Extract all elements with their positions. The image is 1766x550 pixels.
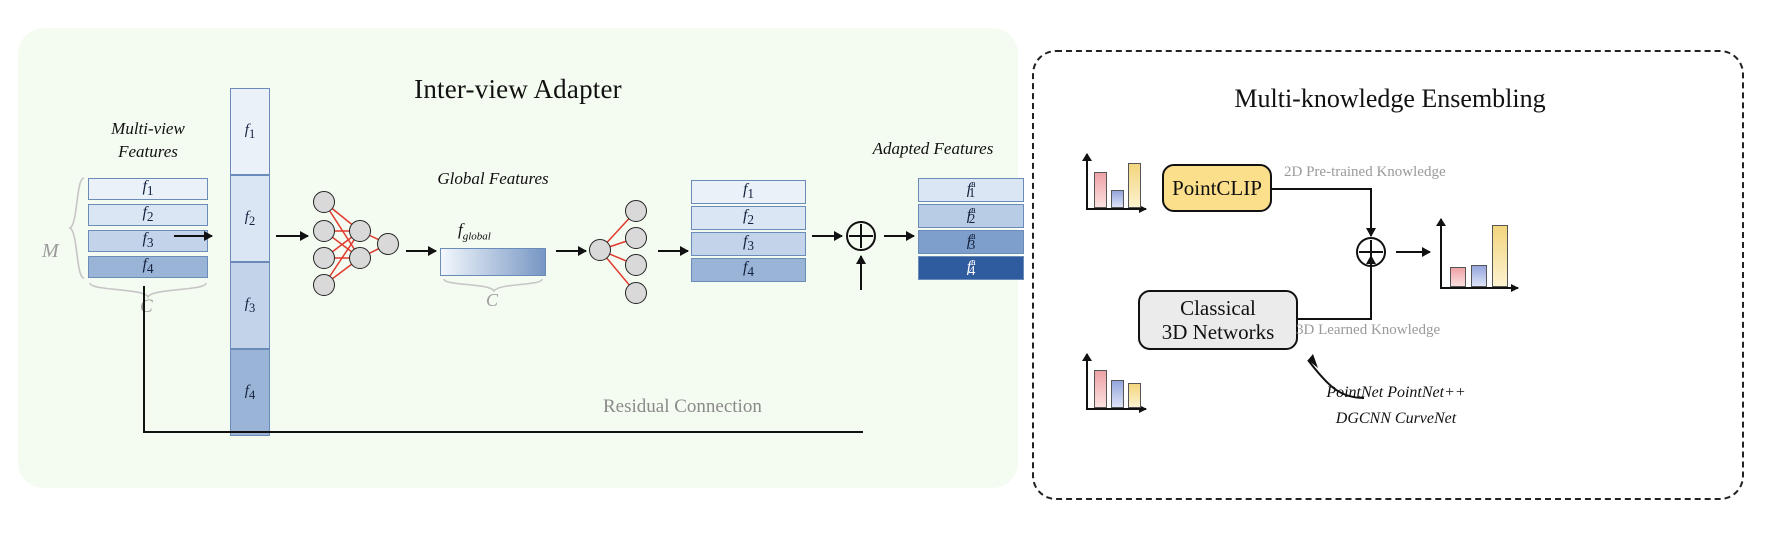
multi-view-features-label: Multi-view Features (53, 118, 243, 164)
adapted-feature-box: fa4 (918, 256, 1024, 280)
decoded-feature-box: f2 (691, 206, 806, 230)
decoded-feature-box: f3 (691, 232, 806, 256)
global-feature-bar (440, 248, 546, 276)
page-title-right: Multi-knowledge Ensembling (1034, 84, 1746, 114)
bottom-knowledge-elbow (1370, 274, 1372, 320)
arrow-to-concat (174, 235, 212, 237)
global-features-label: Global Features (388, 168, 598, 191)
bottom-knowledge-line (1298, 318, 1372, 320)
inter-view-adapter-panel: Inter-view Adapter Multi-view Features M… (18, 28, 1018, 488)
arrow-to-output-chart (1396, 251, 1430, 253)
concat-segment: f1 (230, 88, 270, 175)
network-names-list: PointNet PointNet++ DGCNN CurveNet (1286, 380, 1506, 431)
oplus-icon-ensemble (1356, 237, 1386, 267)
decoder-output-node (625, 227, 647, 249)
decoder-input-node (589, 239, 611, 261)
multi-view-feature-box: f3 (88, 230, 208, 252)
decoded-feature-box: f1 (691, 180, 806, 204)
encoder-hidden-node (349, 220, 371, 242)
adapted-feature-box: fa1 (918, 178, 1024, 202)
multi-view-feature-box: f1 (88, 178, 208, 200)
residual-connection-label: Residual Connection (603, 396, 762, 418)
decoder-output-node (625, 200, 647, 222)
oplus-icon (846, 221, 876, 251)
knowledge-label-2d: 2D Pre-trained Knowledge (1284, 164, 1446, 181)
arrow-to-sum (812, 235, 842, 237)
diagram-canvas: Inter-view Adapter Multi-view Features M… (0, 0, 1766, 550)
adapted-feature-box: fa3 (918, 230, 1024, 254)
top-knowledge-arrow (1370, 218, 1372, 236)
page-title: Inter-view Adapter (18, 74, 1018, 105)
decoder-output-node (625, 254, 647, 276)
encoder-hidden-node (349, 247, 371, 269)
adapted-features-label: Adapted Features (833, 138, 1033, 161)
f-global-label: fglobal (458, 220, 491, 242)
adapted-feature-box: fa2 (918, 204, 1024, 228)
arrow-to-adapted (884, 235, 914, 237)
encoder-node (313, 220, 335, 242)
multi-view-feature-box: f4 (88, 256, 208, 278)
concat-segment: f2 (230, 175, 270, 262)
classical-3d-networks-box[interactable]: Classical 3D Networks (1138, 290, 1298, 350)
top-knowledge-line (1272, 188, 1372, 190)
encoder-node (313, 247, 335, 269)
knowledge-label-3d: 3D Learned Knowledge (1296, 322, 1440, 339)
arrow-to-decoded-features (658, 250, 688, 252)
decoded-feature-box: f4 (691, 258, 806, 282)
residual-arrow-up (860, 256, 862, 290)
dimension-m-label: M (42, 240, 59, 263)
pointclip-input-chart (1086, 152, 1148, 210)
encoder-output-node (377, 233, 399, 255)
encoder-node (313, 191, 335, 213)
ensembled-output-chart (1440, 217, 1520, 289)
pointclip-box[interactable]: PointCLIP (1162, 164, 1272, 212)
classical-input-chart (1086, 352, 1148, 410)
multi-view-feature-box: f2 (88, 204, 208, 226)
multi-knowledge-ensembling-panel: Multi-knowledge Ensembling PointCLIP Cla… (1032, 50, 1744, 500)
arrow-to-global (406, 250, 436, 252)
brace-m (68, 176, 86, 281)
